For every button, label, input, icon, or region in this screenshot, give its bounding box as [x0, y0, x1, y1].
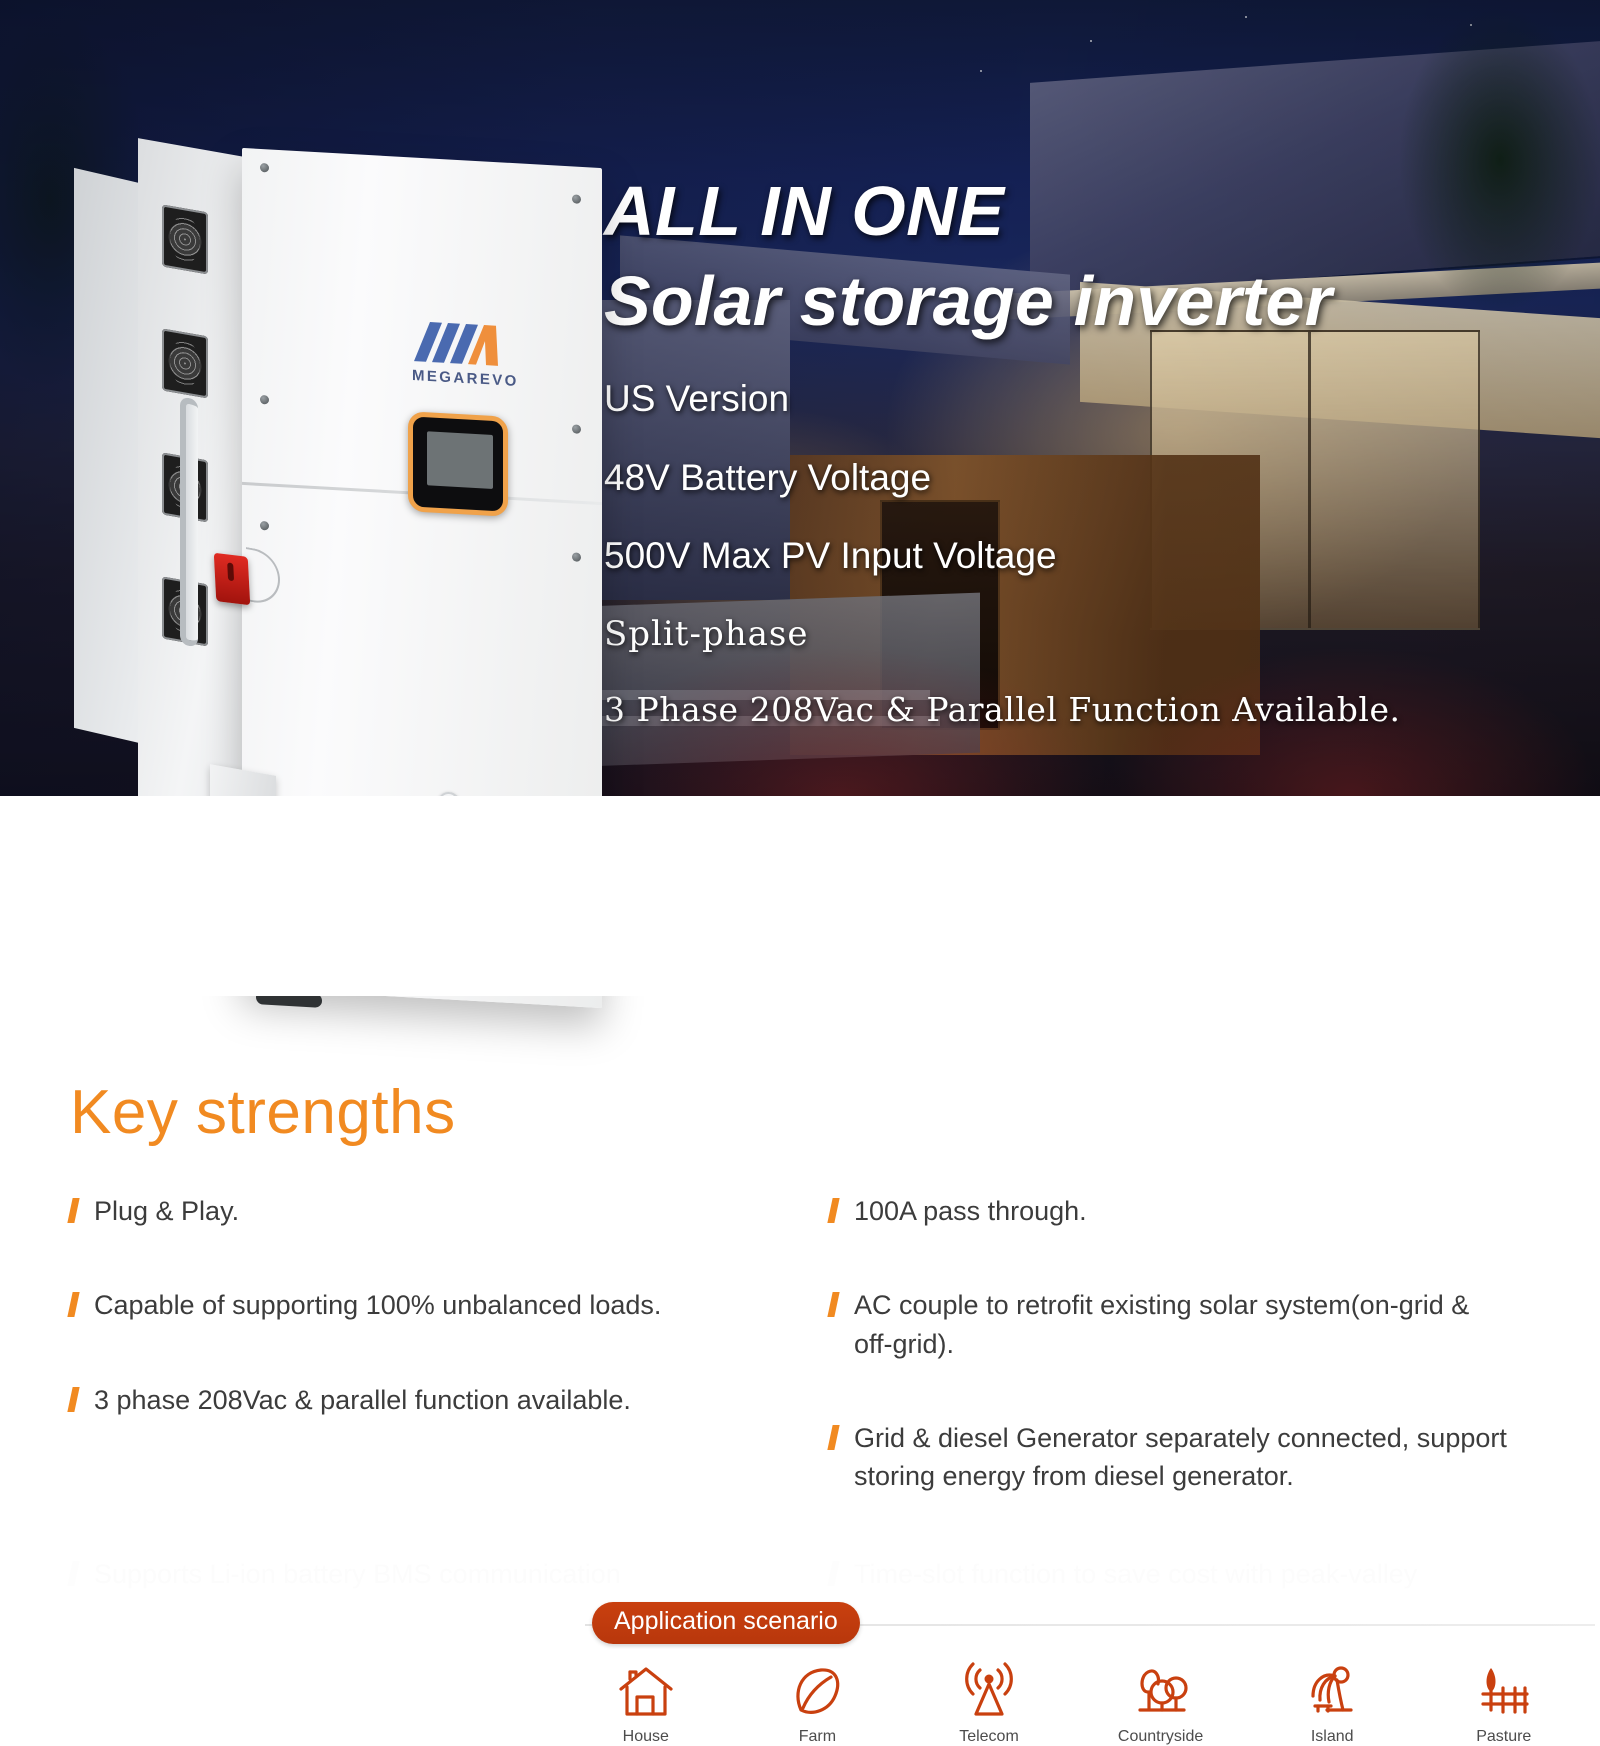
bullet-marker-icon: [67, 1561, 79, 1586]
key-strengths-left-column: Plug & Play. Capable of supporting 100% …: [70, 1192, 805, 1552]
strength-text: AC couple to retrofit existing solar sys…: [854, 1286, 1514, 1363]
scenario-item-farm[interactable]: Farm: [732, 1658, 904, 1746]
key-strengths-title: Key strengths: [70, 1077, 456, 1148]
application-scenario-section: Application scenario House Farm: [0, 796, 1600, 996]
key-strengths-overflow-row: Supports Li-ion battery BMS communicatio…: [70, 1555, 1540, 1593]
strength-item: Capable of supporting 100% unbalanced lo…: [70, 1286, 805, 1324]
cooling-fan-2: [162, 328, 208, 398]
telecom-tower-icon: [903, 1658, 1075, 1720]
palm-island-icon: [1246, 1658, 1418, 1720]
strength-item-partial-left: Supports Li-ion battery BMS communicatio…: [70, 1555, 805, 1593]
trees-icon: [1075, 1658, 1247, 1720]
strength-text: Grid & diesel Generator separately conne…: [854, 1419, 1514, 1496]
strength-item-partial-right: Time-slot function to save cost with pea…: [805, 1555, 1540, 1593]
hero-spec-split-phase: Split-phase: [604, 614, 1594, 654]
strength-item: 100A pass through.: [830, 1192, 1540, 1230]
strength-item: 3 phase 208Vac & parallel function avail…: [70, 1381, 805, 1419]
strength-item: Plug & Play.: [70, 1192, 805, 1230]
hero-spec-battery: 48V Battery Voltage: [604, 457, 1594, 500]
hero-copy: ALL IN ONE Solar storage inverter US Ver…: [604, 176, 1594, 729]
scenario-list: House Farm Tel: [560, 1658, 1590, 1746]
bullet-marker-icon: [67, 1292, 79, 1317]
bullet-marker-icon: [827, 1561, 839, 1586]
scenario-label: Farm: [732, 1728, 904, 1746]
scenario-label: Telecom: [903, 1728, 1075, 1746]
cooling-fan-1: [162, 204, 208, 274]
scenario-label: Island: [1246, 1728, 1418, 1746]
hero-title-line2: Solar storage inverter: [604, 263, 1594, 340]
scenario-item-telecom[interactable]: Telecom: [903, 1658, 1075, 1746]
application-scenario-badge: Application scenario: [592, 1602, 860, 1644]
bullet-marker-icon: [67, 1198, 79, 1223]
scenario-item-house[interactable]: House: [560, 1658, 732, 1746]
strength-item: AC couple to retrofit existing solar sys…: [830, 1286, 1540, 1363]
inverter-display-bezel: [408, 411, 508, 517]
bullet-marker-icon: [67, 1387, 79, 1412]
house-icon: [560, 1658, 732, 1720]
strength-text: Supports Li-ion battery BMS communicatio…: [94, 1555, 621, 1593]
scenario-item-island[interactable]: Island: [1246, 1658, 1418, 1746]
bullet-marker-icon: [827, 1198, 839, 1223]
hero-spec-pv-input: 500V Max PV Input Voltage: [604, 535, 1594, 578]
hero-title-line1: ALL IN ONE: [604, 176, 1594, 247]
hero-spec-3phase: 3 Phase 208Vac & Parallel Function Avail…: [604, 690, 1594, 729]
scenario-item-countryside[interactable]: Countryside: [1075, 1658, 1247, 1746]
fence-tree-icon: [1418, 1658, 1590, 1720]
megarevo-logo: MEGAREVO: [412, 317, 519, 390]
strength-text: Plug & Play.: [94, 1192, 239, 1230]
scenario-label: House: [560, 1728, 732, 1746]
megarevo-mark-icon: [412, 317, 500, 370]
key-strengths-right-column: 100A pass through. AC couple to retrofit…: [805, 1192, 1540, 1552]
bullet-marker-icon: [827, 1425, 839, 1450]
scenario-item-pasture[interactable]: Pasture: [1418, 1658, 1590, 1746]
strength-text: Time-slot function to save cost with pea…: [854, 1555, 1417, 1593]
inverter-handle: [180, 396, 198, 647]
leaf-icon: [732, 1658, 904, 1720]
scenario-label: Pasture: [1418, 1728, 1590, 1746]
scenario-label: Countryside: [1075, 1728, 1247, 1746]
strength-item: Grid & diesel Generator separately conne…: [830, 1419, 1540, 1496]
strength-text: 3 phase 208Vac & parallel function avail…: [94, 1381, 631, 1419]
bullet-marker-icon: [827, 1292, 839, 1317]
strength-text: Capable of supporting 100% unbalanced lo…: [94, 1286, 661, 1324]
inverter-lcd-screen: [427, 431, 493, 489]
hero-spec-us-version: US Version: [604, 378, 1594, 421]
dc-rotary-switch[interactable]: [214, 553, 250, 606]
key-strengths-columns: Plug & Play. Capable of supporting 100% …: [70, 1192, 1540, 1552]
inverter-back-edge: [74, 168, 144, 744]
strength-text: 100A pass through.: [854, 1192, 1087, 1230]
